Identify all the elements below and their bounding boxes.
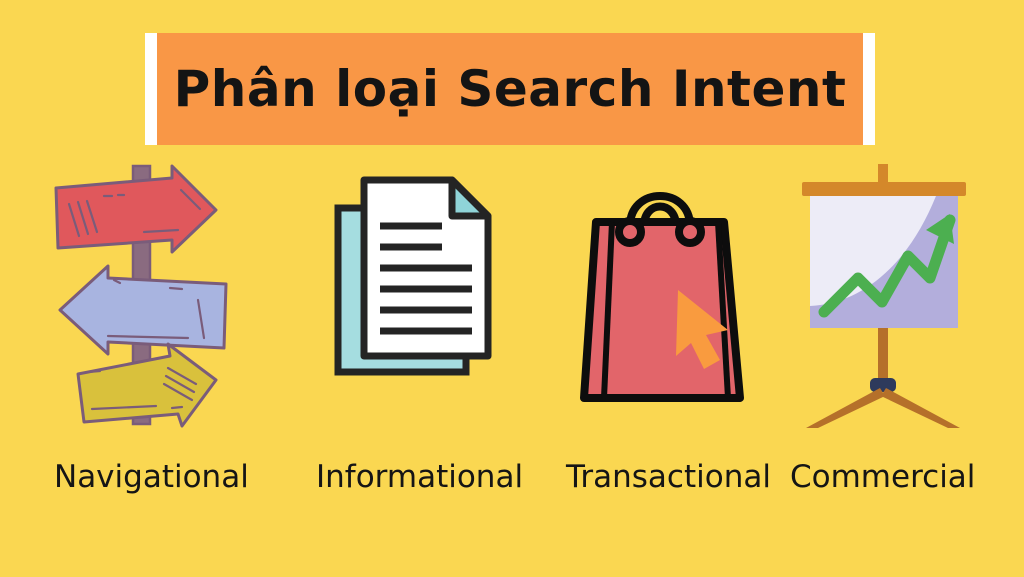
icon-row	[0, 160, 1024, 430]
category-label-commercial: Commercial	[790, 455, 975, 499]
banner-right-edge	[863, 33, 875, 145]
category-label-row: Navigational Informational Transactional…	[0, 455, 1024, 515]
search-intent-infographic: Phân loại Search Intent	[0, 0, 1024, 577]
icon-cell-transactional	[578, 160, 758, 430]
icon-cell-navigational	[48, 160, 268, 430]
banner-left-edge	[145, 33, 157, 145]
banner-body: Phân loại Search Intent	[157, 33, 863, 145]
page-title: Phân loại Search Intent	[174, 64, 847, 114]
category-label-navigational: Navigational	[54, 455, 249, 499]
presentation-chart-icon	[788, 160, 983, 430]
shopping-bag-icon	[578, 160, 758, 430]
icon-cell-commercial	[788, 160, 983, 430]
category-label-informational: Informational	[316, 455, 523, 499]
signpost-icon	[48, 160, 268, 430]
title-banner: Phân loại Search Intent	[145, 33, 875, 145]
icon-cell-informational	[330, 160, 520, 430]
category-label-transactional: Transactional	[566, 455, 771, 499]
document-icon	[330, 160, 520, 430]
